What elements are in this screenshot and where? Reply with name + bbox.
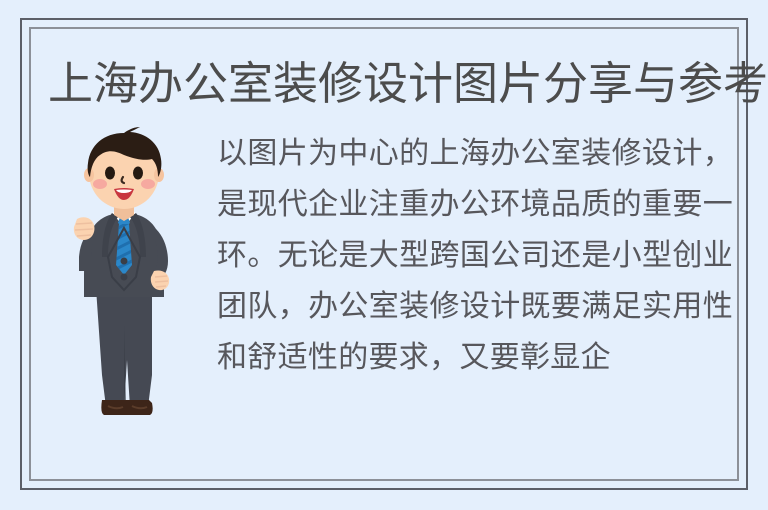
left-blush (93, 179, 107, 189)
jacket-button-bottom (121, 274, 128, 281)
page-root: 上海办公室装修设计图片分享与参考 以图片为中心的上海办公室装修设计，是现代企业注… (0, 0, 768, 510)
right-eye (133, 167, 143, 180)
page-title: 上海办公室装修设计图片分享与参考 (48, 58, 708, 110)
article-body-text: 以图片为中心的上海办公室装修设计，是现代企业注重办公环境品质的重要一环。无论是大… (217, 128, 733, 388)
left-eye (105, 167, 115, 180)
jacket-button-top (121, 258, 128, 265)
businessman-cheering-illustration (60, 125, 188, 420)
right-blush (141, 179, 155, 189)
